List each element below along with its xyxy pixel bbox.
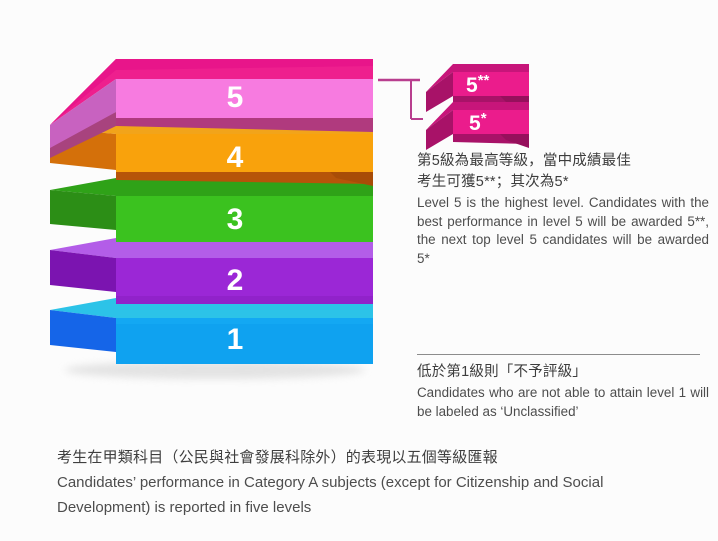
note-bottom-unclassified: 低於第1級則「不予評級」 Candidates who are not able… [417, 362, 709, 421]
level-5-front-face [116, 79, 373, 118]
note-top-zh-line2: 考生可獲5**；其次為5* [417, 172, 709, 193]
level-2-front-shade [116, 296, 373, 304]
level-5-number: 5 [227, 81, 244, 114]
level-1-slab[interactable]: 1 [50, 298, 373, 364]
note-bottom-zh: 低於第1級則「不予評級」 [417, 362, 709, 383]
level-1-front-face [116, 318, 373, 364]
tag-5-star-front-face [453, 110, 529, 134]
tag-5-star[interactable]: 5* [426, 102, 529, 150]
note-top-level5: 第5級為最高等級，當中成績最佳 考生可獲5**；其次為5* Level 5 is… [417, 151, 709, 268]
note-divider [417, 354, 700, 355]
note-top-zh-line1: 第5級為最高等級，當中成績最佳 [417, 151, 709, 172]
note-bottom-en: Candidates who are not able to attain le… [417, 384, 709, 421]
level-4-front-face [116, 134, 373, 172]
footer-caption: 考生在甲類科目（公民與社會發展科除外）的表現以五個等級匯報 Candidates… [57, 446, 697, 520]
level-3-slab[interactable]: 3 [50, 178, 373, 242]
note-top-en: Level 5 is the highest level. Candidates… [417, 194, 709, 268]
footer-en: Candidates’ performance in Category A su… [57, 470, 667, 520]
level-1-number: 1 [227, 323, 244, 356]
tag-5-double-star-front-face [453, 72, 529, 96]
level-3-number: 3 [227, 203, 244, 236]
level-1-front-shade [116, 318, 373, 324]
level-2-number: 2 [227, 264, 244, 297]
footer-zh: 考生在甲類科目（公民與社會發展科除外）的表現以五個等級匯報 [57, 446, 697, 470]
level-2-slab[interactable]: 2 [50, 238, 373, 304]
level-3-front-face [116, 196, 373, 242]
level-4-number: 4 [227, 141, 244, 174]
infographic-stage: 1 2 3 4 [0, 0, 718, 541]
level-3-left-face [50, 190, 116, 230]
bracket-connector [378, 80, 423, 119]
